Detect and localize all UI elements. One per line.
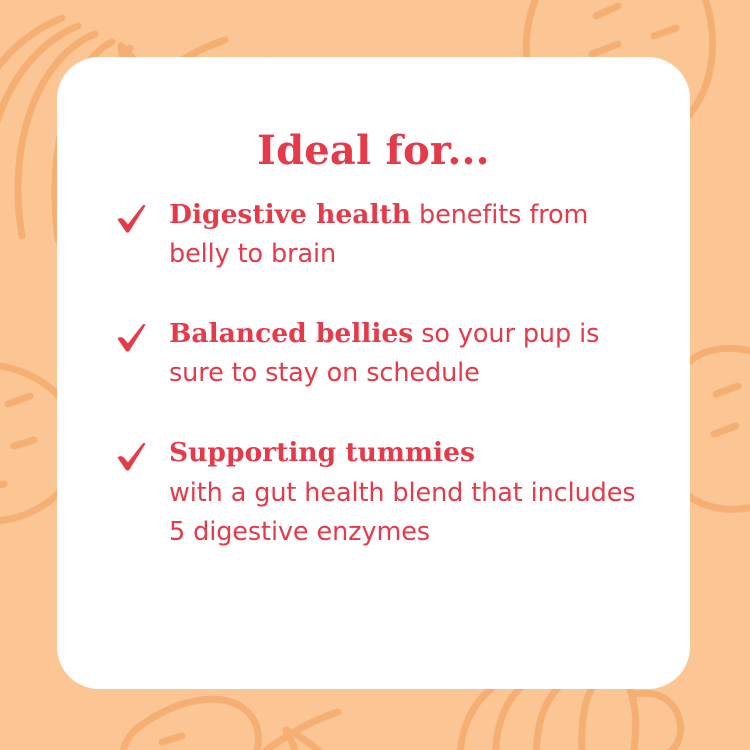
sweet-potato-icon-bottom-left <box>122 699 258 750</box>
list-item: Digestive health benefits from belly to … <box>115 195 650 274</box>
checkmark-icon <box>115 441 149 475</box>
benefit-text: Supporting tummieswith a gut health blen… <box>169 433 650 552</box>
checkmark-icon <box>115 322 149 356</box>
benefit-text: Balanced bellies so your pup is sure to … <box>169 314 650 393</box>
pumpkin-icon-bottom <box>230 686 681 750</box>
benefit-lead: Supporting tummies <box>169 433 650 473</box>
benefit-lead: Digestive health <box>169 199 411 230</box>
checkmark-icon <box>115 203 149 237</box>
list-item: Supporting tummieswith a gut health blen… <box>115 433 650 552</box>
list-item: Balanced bellies so your pup is sure to … <box>115 314 650 393</box>
page-title: Ideal for... <box>57 131 690 171</box>
poster-root: Ideal for... Digestive health benefits f… <box>0 0 750 750</box>
benefit-lead: Balanced bellies <box>169 318 413 349</box>
benefit-rest: with a gut health blend that includes 5 … <box>169 478 636 547</box>
content-card: Ideal for... Digestive health benefits f… <box>57 57 690 689</box>
benefit-text: Digestive health benefits from belly to … <box>169 195 650 274</box>
leaf-icon-bottom-left <box>286 730 340 750</box>
benefits-list: Digestive health benefits from belly to … <box>115 195 650 552</box>
